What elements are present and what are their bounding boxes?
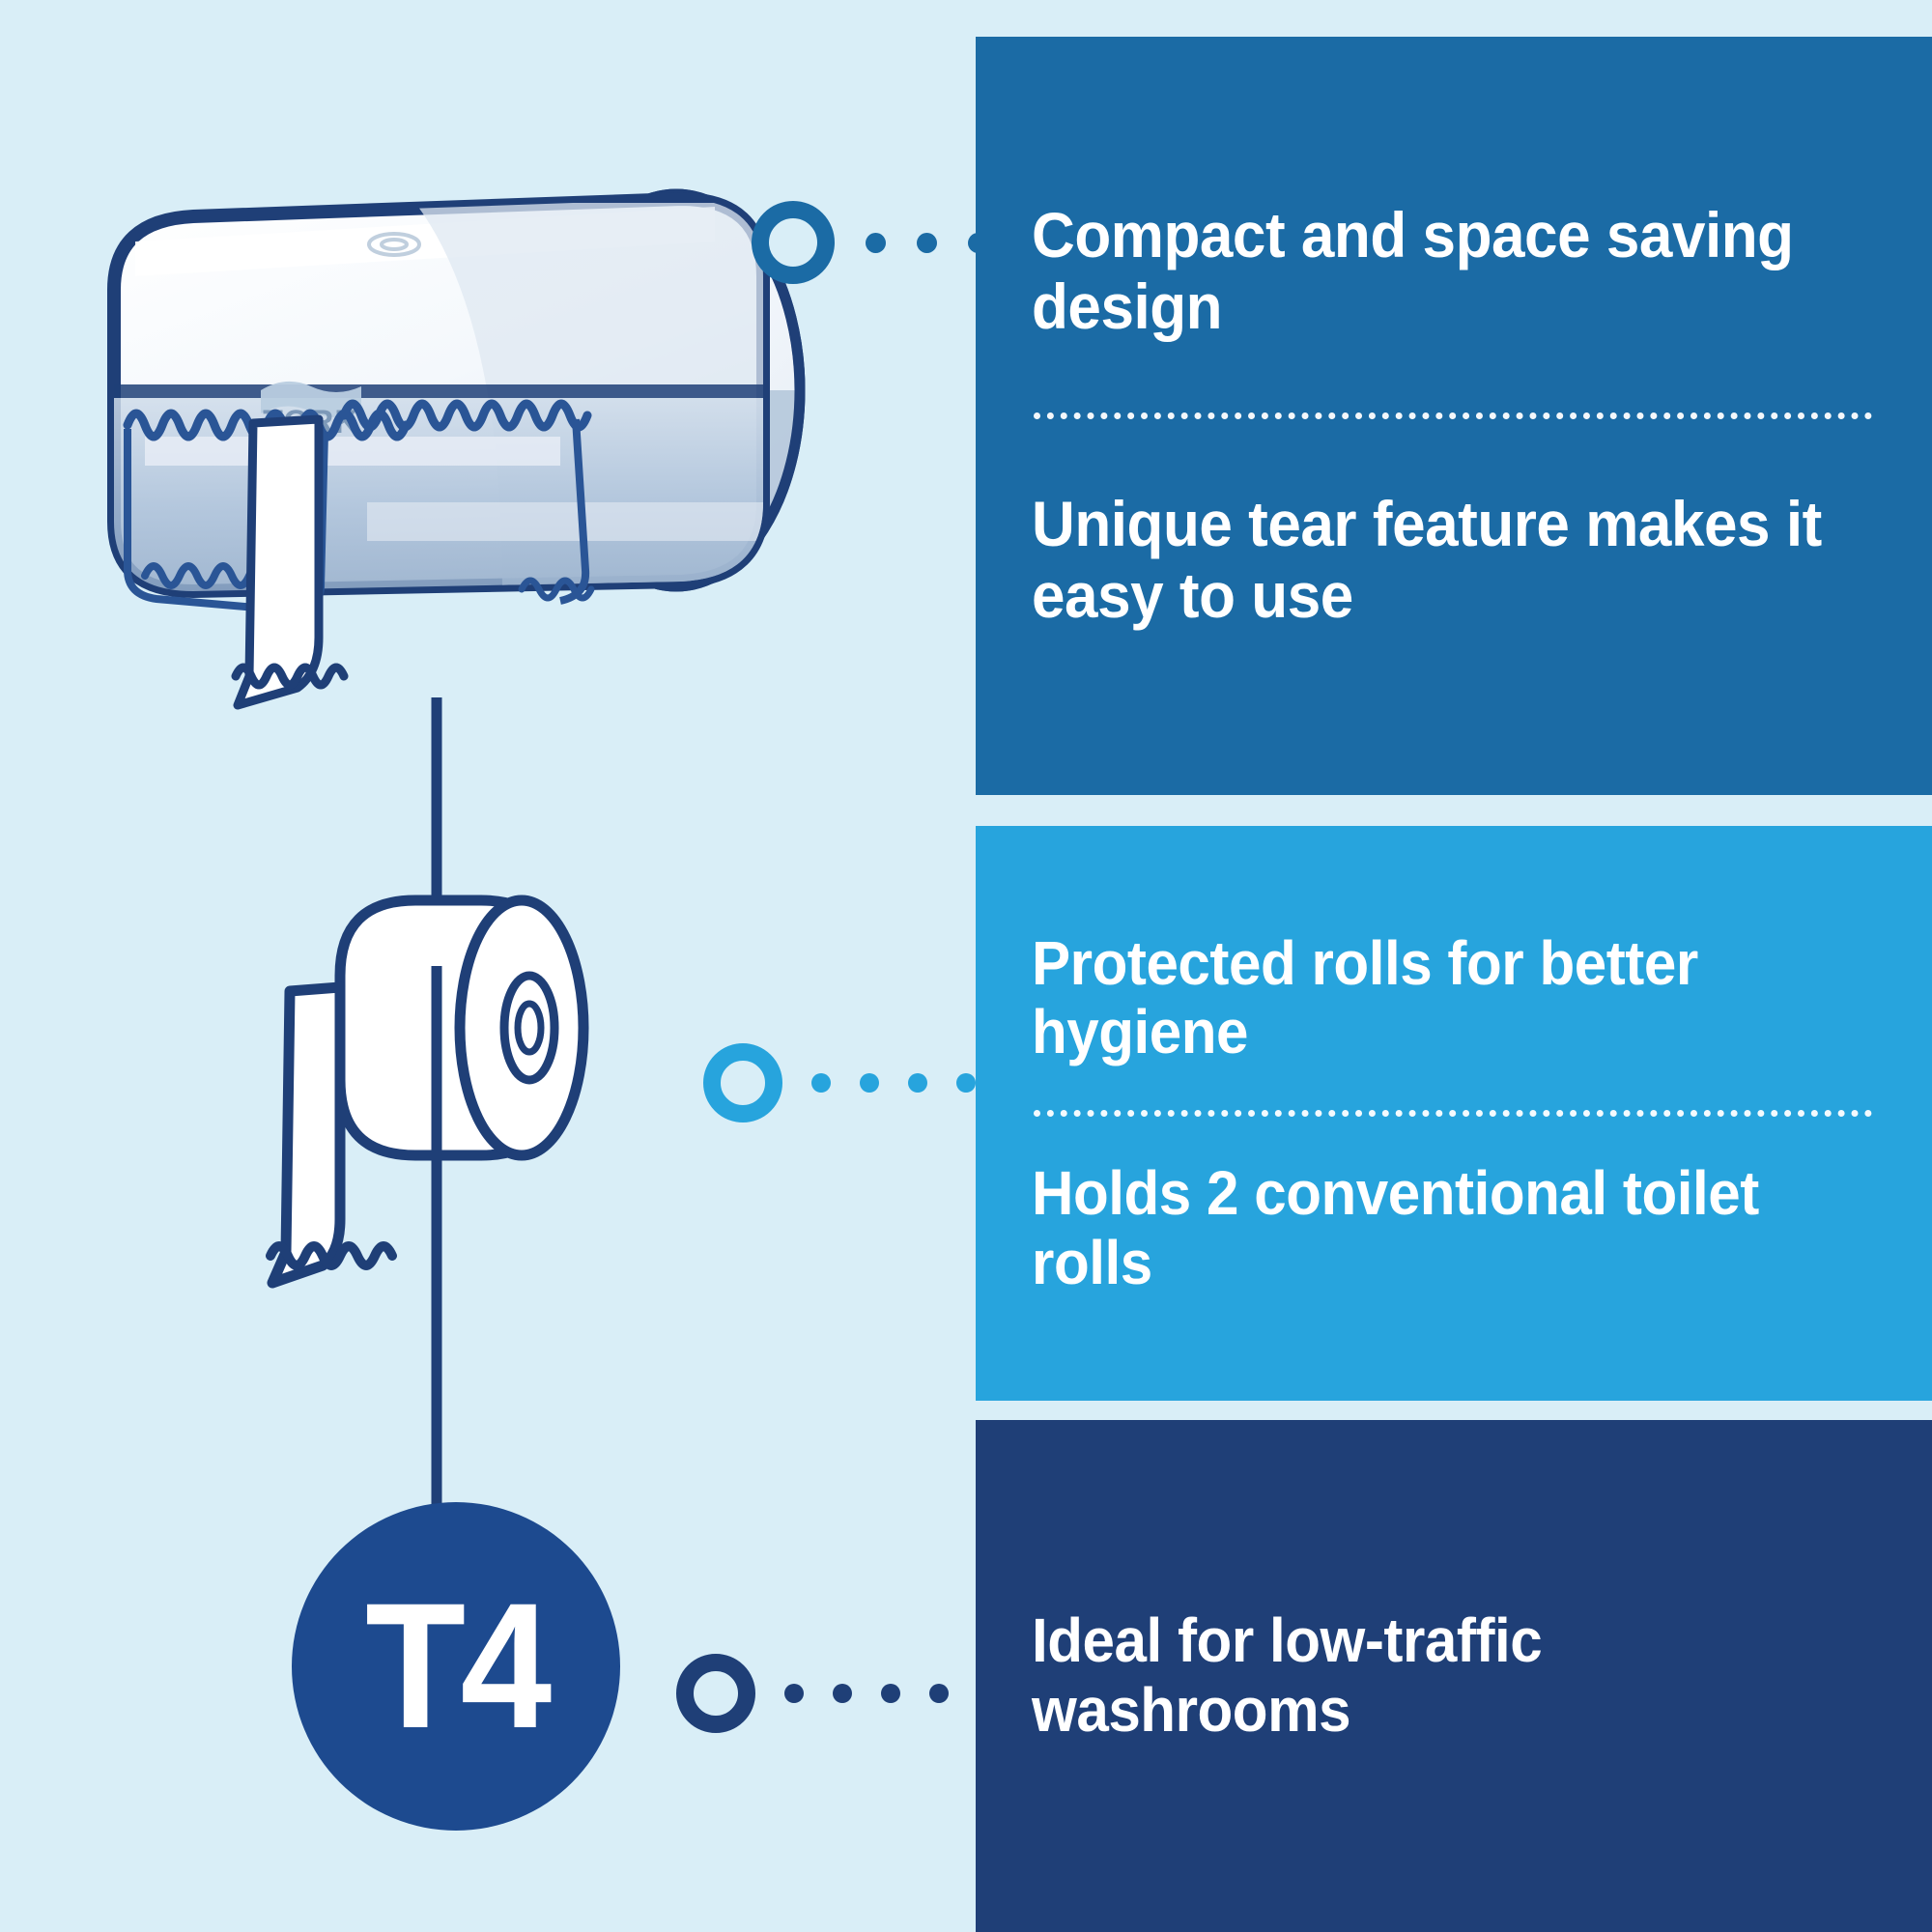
feature-text: Compact and space saving design xyxy=(1032,200,1826,343)
feature-divider xyxy=(1034,1110,1872,1117)
connector-panel-2 xyxy=(676,1654,997,1733)
ring-connector-icon xyxy=(752,201,835,284)
connector-dot xyxy=(833,1684,852,1703)
connector-dot xyxy=(929,1684,949,1703)
connector-dot xyxy=(908,1073,927,1093)
feature-text: Unique tear feature makes it easy to use xyxy=(1032,489,1826,632)
badge-label: T4 xyxy=(365,1577,547,1756)
toilet-roll-illustration xyxy=(270,900,583,1283)
ring-connector-icon xyxy=(676,1654,755,1733)
feature-divider xyxy=(1034,412,1872,419)
connector-dot xyxy=(956,1073,976,1093)
connector-dot xyxy=(917,233,937,253)
connector-dot xyxy=(811,1073,831,1093)
feature-panel-hygiene-capacity: Protected rolls for better hygiene Holds… xyxy=(976,826,1932,1401)
connector-dot xyxy=(881,1684,900,1703)
connector-dots xyxy=(755,1684,997,1703)
connector-dot xyxy=(784,1684,804,1703)
system-badge-t4: T4 xyxy=(292,1502,620,1831)
connector-dot xyxy=(860,1073,879,1093)
ring-connector-icon xyxy=(703,1043,782,1122)
feature-text: Ideal for low-traffic washrooms xyxy=(1032,1606,1826,1745)
connector-dot xyxy=(866,233,886,253)
infographic-canvas: TORK xyxy=(0,0,1932,1932)
dispenser-illustration: TORK xyxy=(114,194,804,705)
feature-text: Protected rolls for better hygiene xyxy=(1032,929,1826,1067)
feature-panel-compact-tear: Compact and space saving design Unique t… xyxy=(976,37,1932,795)
feature-text: Holds 2 conventional toilet rolls xyxy=(1032,1159,1826,1297)
feature-panel-traffic: Ideal for low-traffic washrooms xyxy=(976,1420,1932,1932)
